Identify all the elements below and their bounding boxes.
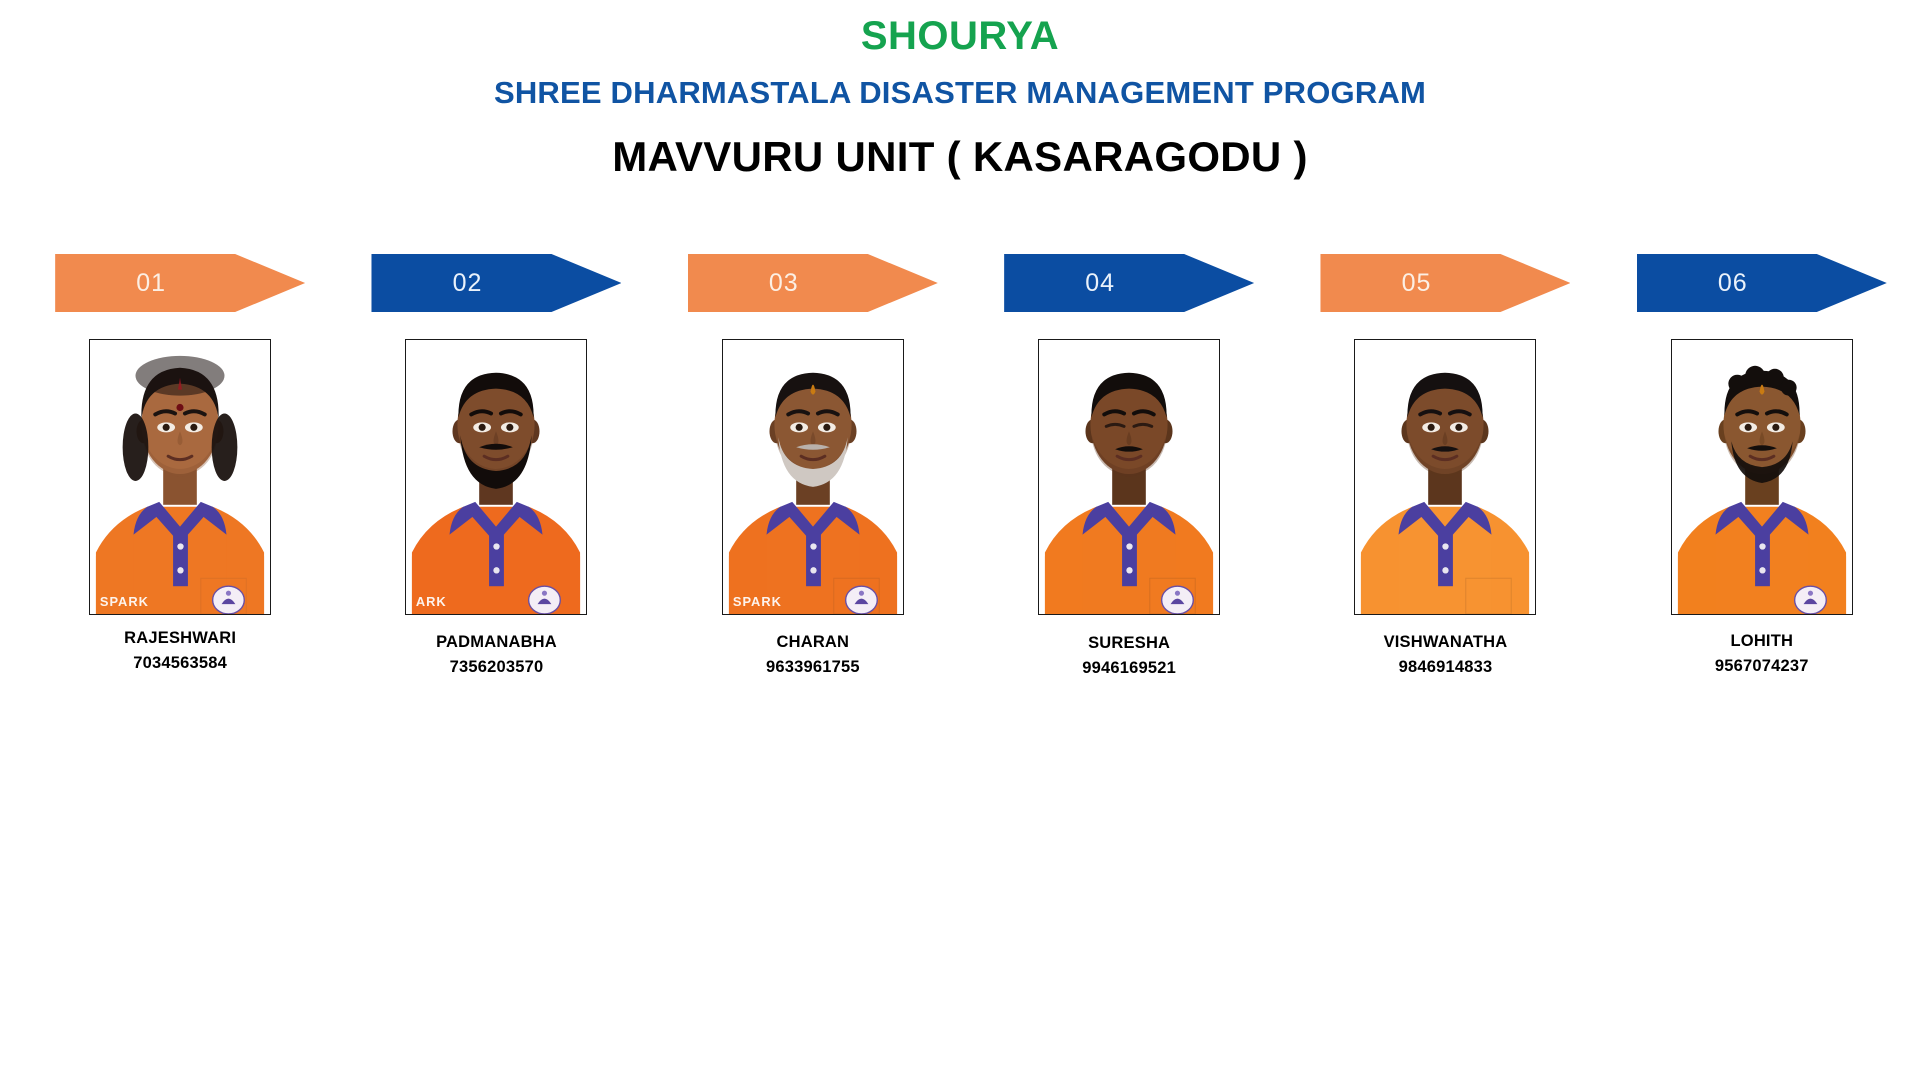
portrait-suresha — [1039, 340, 1219, 614]
member-card: 04SURESHA9946169521 — [971, 254, 1287, 678]
member-name: VISHWANATHA — [1384, 632, 1508, 653]
member-caption: VISHWANATHA9846914833 — [1384, 632, 1508, 677]
member-phone: 7356203570 — [436, 657, 557, 678]
member-number: 06 — [1718, 269, 1748, 298]
portrait-vishwanatha — [1355, 340, 1535, 614]
member-number: 05 — [1402, 269, 1432, 298]
member-roster: 01SPARKRAJESHWARI703456358402ARKPADMANAB… — [0, 254, 1920, 678]
portrait-lohith — [1672, 340, 1852, 614]
chevron-banner-shape: 02 — [371, 254, 621, 312]
portrait-charan: SPARK — [723, 340, 903, 614]
svg-text:SPARK: SPARK — [733, 594, 782, 609]
member-phone: 9567074237 — [1715, 656, 1809, 677]
member-name: LOHITH — [1715, 631, 1809, 652]
member-number: 03 — [769, 269, 799, 298]
member-phone: 9846914833 — [1384, 657, 1508, 678]
program-title: SHREE DHARMASTALA DISASTER MANAGEMENT PR… — [0, 75, 1920, 111]
member-photo-frame: ARK — [405, 339, 587, 615]
member-phone: 7034563584 — [124, 653, 236, 674]
portrait-padmanabha: ARK — [406, 340, 586, 614]
member-card: 03SPARKCHARAN9633961755 — [655, 254, 971, 677]
member-number-banner: 05 — [1320, 254, 1570, 312]
member-number: 04 — [1085, 269, 1115, 298]
chevron-banner-shape: 03 — [688, 254, 938, 312]
member-caption: RAJESHWARI7034563584 — [124, 628, 236, 673]
member-card: 05VISHWANATHA9846914833 — [1287, 254, 1603, 677]
member-photo-frame: SPARK — [722, 339, 904, 615]
member-name: RAJESHWARI — [124, 628, 236, 649]
member-photo-frame — [1354, 339, 1536, 615]
member-name: CHARAN — [766, 632, 860, 653]
member-photo-frame — [1671, 339, 1853, 615]
member-number-banner: 02 — [371, 254, 621, 312]
unit-title: MAVVURU UNIT ( KASARAGODU ) — [0, 133, 1920, 181]
org-title: SHOURYA — [0, 14, 1920, 58]
member-phone: 9946169521 — [1082, 658, 1176, 679]
member-caption: LOHITH9567074237 — [1715, 631, 1809, 676]
member-name: PADMANABHA — [436, 632, 557, 653]
member-number-banner: 01 — [55, 254, 305, 312]
member-phone: 9633961755 — [766, 657, 860, 678]
svg-text:ARK: ARK — [416, 594, 447, 609]
member-photo-frame — [1038, 339, 1220, 615]
member-name: SURESHA — [1082, 633, 1176, 654]
poster-header: SHOURYA SHREE DHARMASTALA DISASTER MANAG… — [0, 14, 1920, 181]
portrait-rajeshwari: SPARK — [90, 340, 270, 614]
chevron-banner-shape: 06 — [1637, 254, 1887, 312]
member-number-banner: 03 — [688, 254, 938, 312]
member-number: 02 — [453, 269, 483, 298]
chevron-banner-shape: 04 — [1004, 254, 1254, 312]
member-caption: PADMANABHA7356203570 — [436, 632, 557, 677]
member-caption: CHARAN9633961755 — [766, 632, 860, 677]
member-number-banner: 04 — [1004, 254, 1254, 312]
member-card: 06LOHITH9567074237 — [1604, 254, 1920, 676]
chevron-banner-shape: 05 — [1320, 254, 1570, 312]
member-card: 01SPARKRAJESHWARI7034563584 — [22, 254, 338, 673]
member-caption: SURESHA9946169521 — [1082, 633, 1176, 678]
chevron-banner-shape: 01 — [55, 254, 305, 312]
member-photo-frame: SPARK — [89, 339, 271, 615]
poster-canvas: SHOURYA SHREE DHARMASTALA DISASTER MANAG… — [0, 14, 1920, 1080]
member-card: 02ARKPADMANABHA7356203570 — [338, 254, 654, 677]
svg-text:SPARK: SPARK — [100, 594, 149, 609]
member-number: 01 — [136, 269, 166, 298]
member-number-banner: 06 — [1637, 254, 1887, 312]
